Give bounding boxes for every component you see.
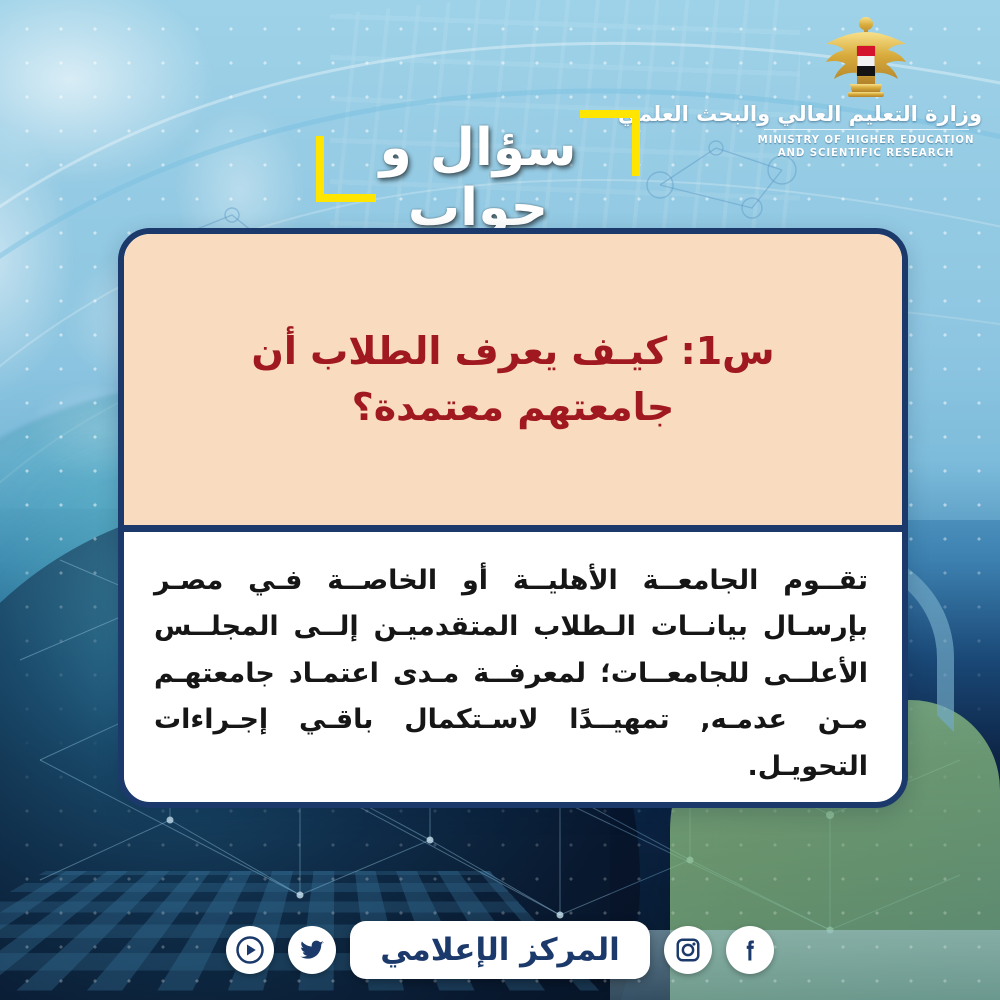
ministry-name-english-line1: MINISTRY OF HIGHER EDUCATION	[750, 134, 982, 147]
facebook-icon	[736, 936, 764, 964]
question-text: س1: كيـف يعرف الطلاب أن جامعتهم معتمدة؟	[170, 324, 856, 434]
media-center-label: المركز الإعلامي	[380, 932, 620, 968]
qa-card: س1: كيـف يعرف الطلاب أن جامعتهم معتمدة؟ …	[118, 228, 908, 808]
question-section: س1: كيـف يعرف الطلاب أن جامعتهم معتمدة؟	[124, 234, 902, 532]
infographic-poster: وزارة التعليم العالي والبحث العلمي MINIS…	[0, 0, 1000, 1000]
answer-text: تقــوم الجامعــة الأهليــة أو الخاصــة ف…	[154, 558, 868, 790]
ministry-logo: وزارة التعليم العالي والبحث العلمي MINIS…	[750, 14, 982, 160]
twitter-icon	[298, 936, 326, 964]
instagram-button[interactable]	[664, 926, 712, 974]
youtube-button[interactable]	[226, 926, 274, 974]
ministry-name-english-line2: AND SCIENTIFIC RESEARCH	[750, 147, 982, 160]
page-title: سؤال و جواب	[318, 118, 638, 238]
ministry-name-arabic: وزارة التعليم العالي والبحث العلمي	[750, 102, 982, 126]
footer-bar: المركز الإعلامي	[0, 914, 1000, 986]
answer-section: تقــوم الجامعــة الأهليــة أو الخاصــة ف…	[124, 532, 902, 787]
egypt-eagle-emblem	[810, 14, 922, 100]
twitter-button[interactable]	[288, 926, 336, 974]
logo-divider	[764, 129, 969, 130]
media-center-badge[interactable]: المركز الإعلامي	[350, 921, 650, 979]
instagram-icon	[674, 936, 702, 964]
title-banner: سؤال و جواب	[318, 112, 638, 198]
youtube-icon	[235, 935, 265, 965]
facebook-button[interactable]	[726, 926, 774, 974]
